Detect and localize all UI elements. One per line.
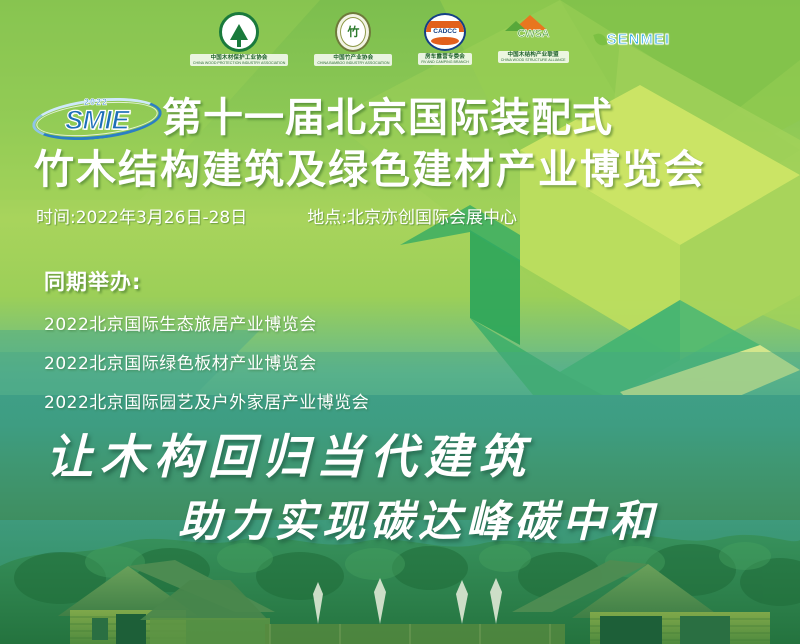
sponsor-name-label: 中国木材保护工业协会 CHINA WOOD PROTECTION INDUSTR…: [190, 54, 288, 66]
sponsor-logo-bamboo-association: 竹 中国竹产业协会 CHINA BAMBOO INDUSTRY ASSOCIAT…: [314, 12, 392, 66]
concurrent-events-heading: 同期举办:: [44, 266, 369, 296]
sponsor-name-label: 房车露营专委会 RV AND CAMPING BRANCH: [418, 53, 471, 65]
concurrent-event-item: 2022北京国际生态旅居产业博览会: [44, 310, 369, 335]
event-date: 时间:2022年3月26日-28日: [36, 203, 247, 228]
title-block: 2022 SMIE 第十一届北京国际装配式 竹木结构建筑及绿色建材产业博览会: [0, 92, 800, 190]
sponsor-logo-cwsa: CWSA 中国木结构产业联盟 CHINA WOOD STRUCTURE ALLI…: [498, 15, 569, 63]
bamboo-oval-logo-icon: 竹: [335, 12, 371, 52]
smie-logo-text: SMIE: [46, 105, 148, 136]
senmei-leaf-logo-icon: SENMEI: [595, 31, 671, 48]
pine-tree-circle-logo-icon: [219, 12, 259, 52]
sponsor-name-label: 中国木结构产业联盟 CHINA WOOD STRUCTURE ALLIANCE: [498, 51, 569, 63]
concurrent-events-section: 同期举办: 2022北京国际生态旅居产业博览会 2022北京国际绿色板材产业博览…: [44, 266, 369, 413]
slogan-line2: 助力实现碳达峰碳中和: [178, 487, 658, 549]
smie-ellipse-logo-icon: 2022 SMIE: [32, 95, 162, 141]
slogan-line1: 让木构回归当代建筑: [46, 418, 532, 487]
page-title-line2: 竹木结构建筑及绿色建材产业博览会: [0, 150, 800, 190]
sponsor-logo-china-wood-protection: 中国木材保护工业协会 CHINA WOOD PROTECTION INDUSTR…: [190, 12, 288, 66]
concurrent-event-item: 2022北京国际绿色板材产业博览会: [44, 349, 369, 374]
exhibition-poster: 中国木材保护工业协会 CHINA WOOD PROTECTION INDUSTR…: [0, 0, 800, 644]
sponsor-name-label: 中国竹产业协会 CHINA BAMBOO INDUSTRY ASSOCIATIO…: [314, 54, 392, 66]
concurrent-event-item: 2022北京国际园艺及户外家居产业博览会: [44, 388, 369, 413]
sponsor-logo-cadcc: CADCC 房车露营专委会 RV AND CAMPING BRANCH: [418, 13, 471, 65]
event-venue: 地点:北京亦创国际会展中心: [307, 203, 517, 228]
sponsor-logo-strip: 中国木材保护工业协会 CHINA WOOD PROTECTION INDUSTR…: [0, 0, 800, 78]
page-title-line1: 第十一届北京国际装配式: [162, 98, 613, 138]
cadcc-roundel-logo-icon: CADCC: [424, 13, 466, 51]
event-meta-row: 时间:2022年3月26日-28日 地点:北京亦创国际会展中心: [36, 203, 517, 228]
sponsor-logo-senmei: SENMEI: [595, 31, 671, 48]
house-roof-logo-icon: CWSA: [505, 15, 561, 49]
